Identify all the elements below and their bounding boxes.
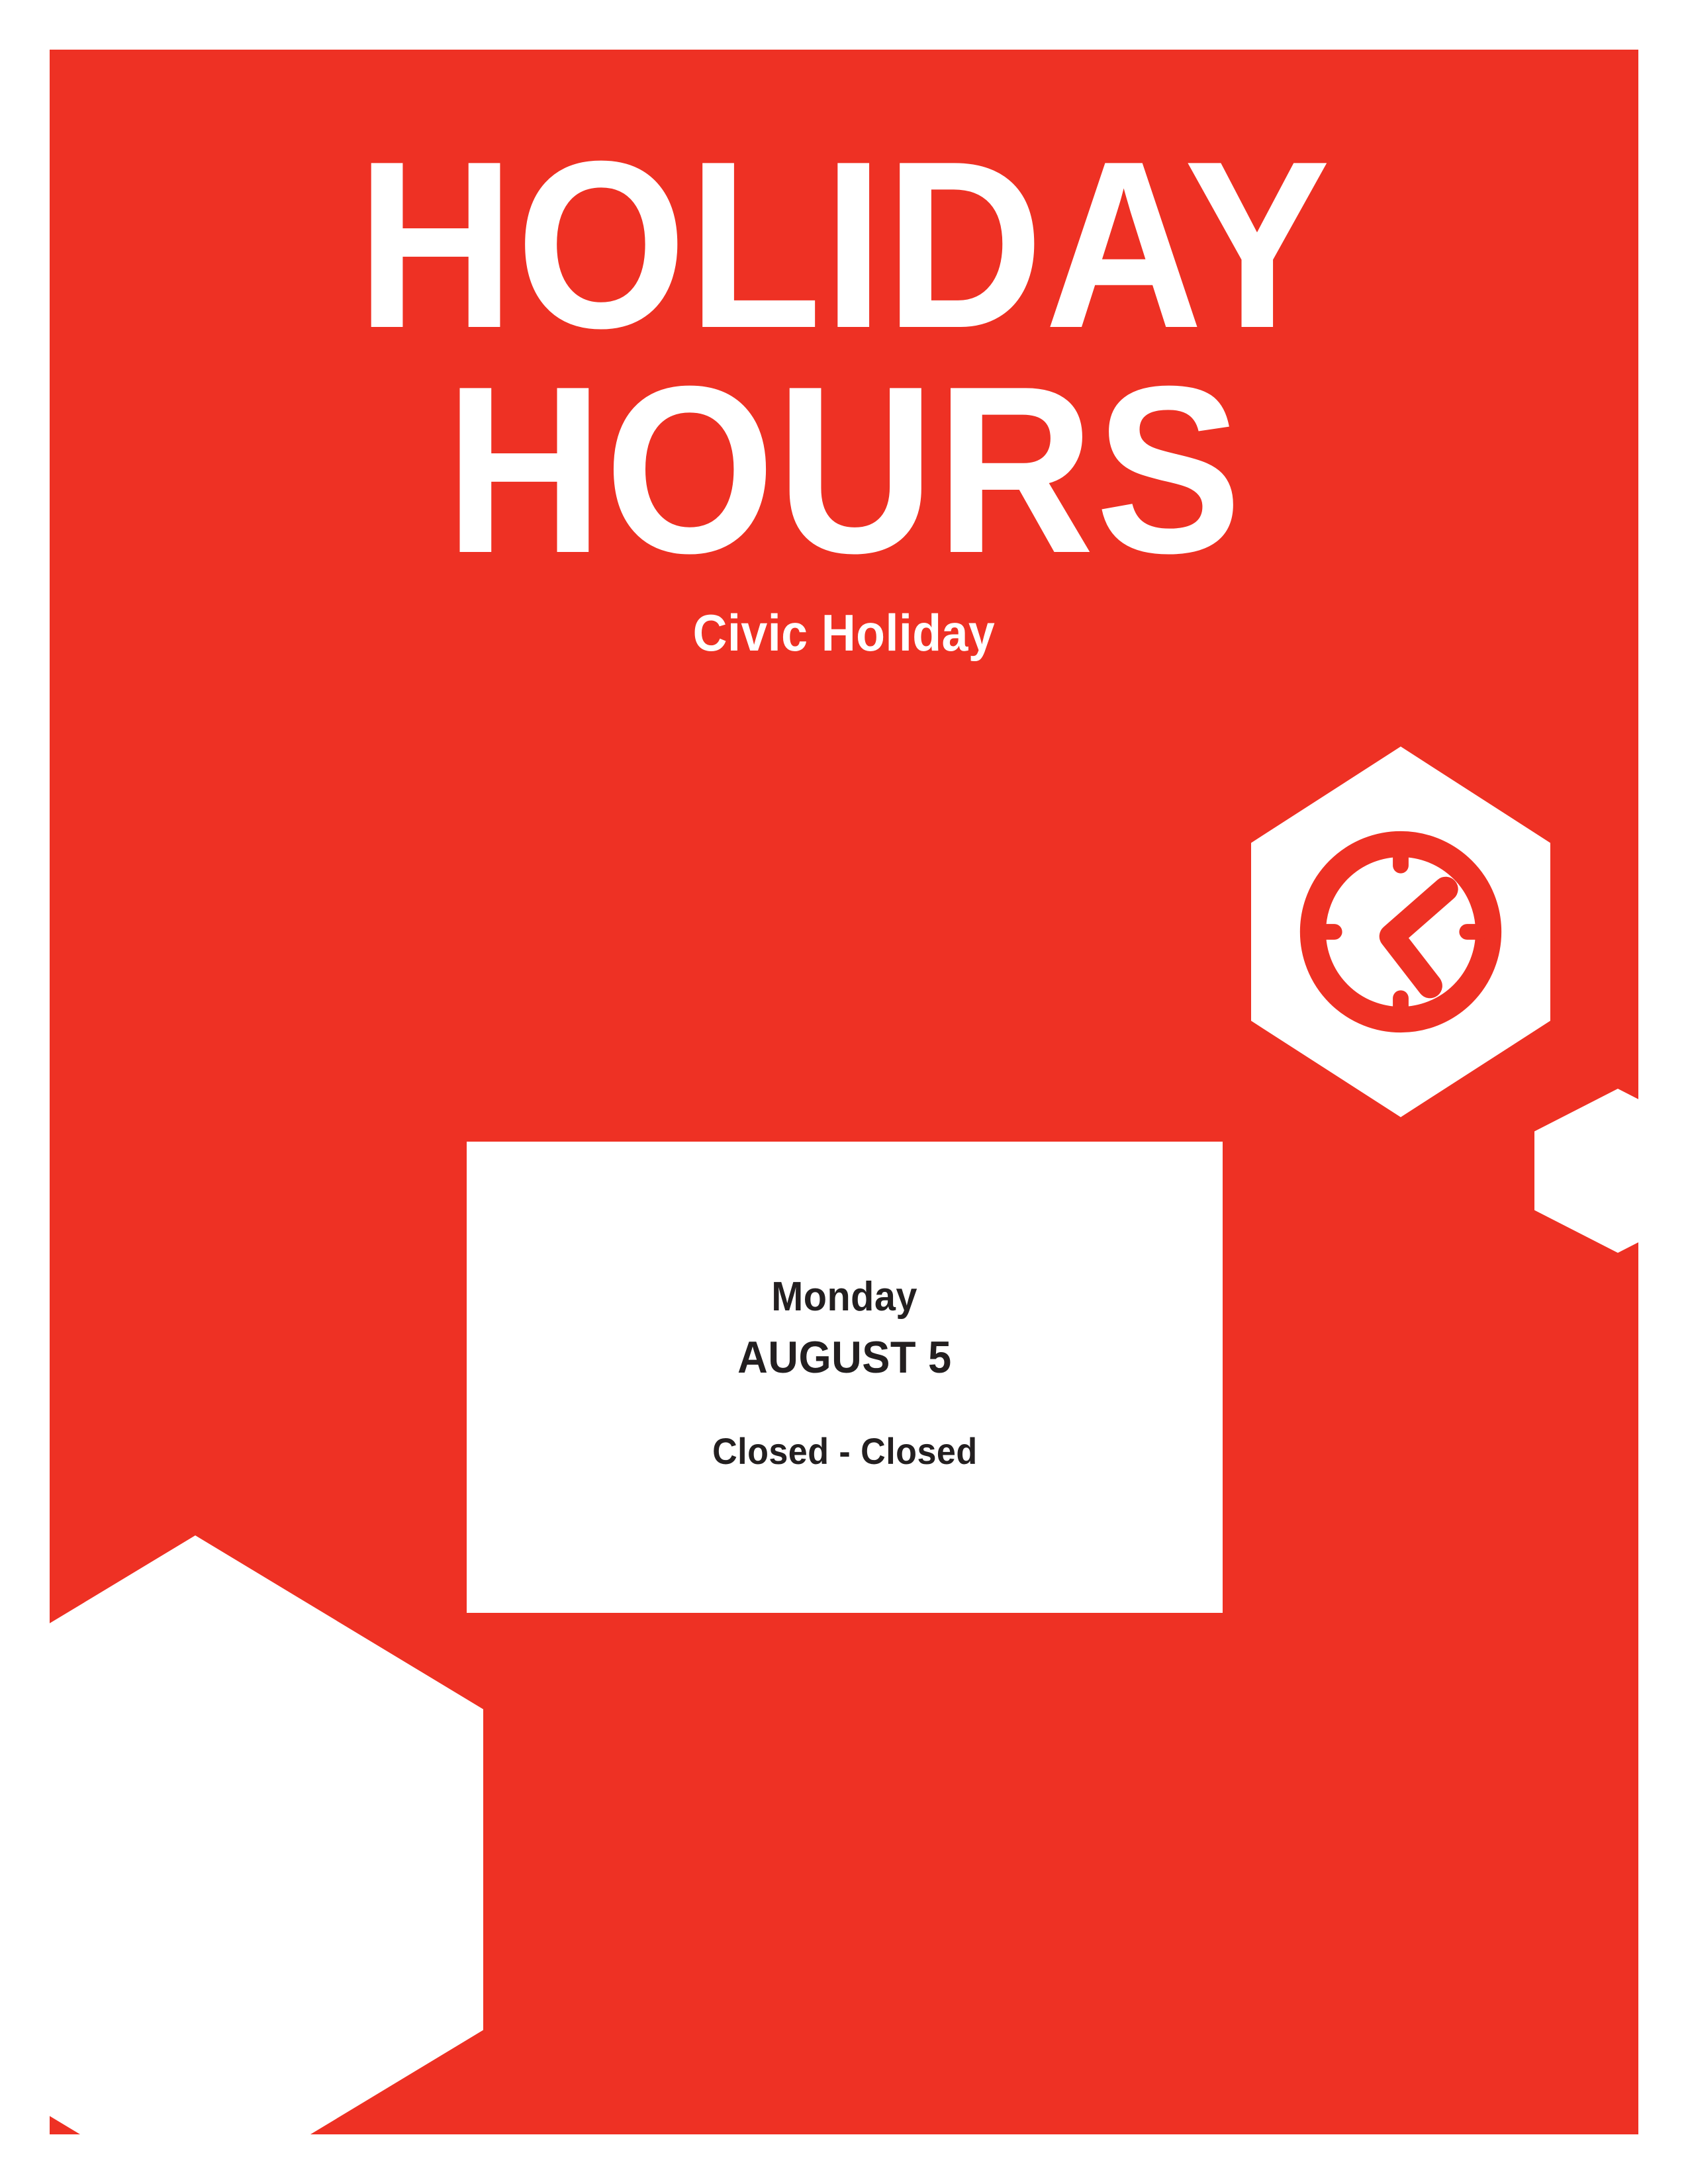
info-card-date: AUGUST 5 [737,1332,951,1383]
clock-icon [1288,819,1513,1044]
headline-line-hours: HOURS [113,361,1575,579]
info-card-day: Monday [772,1274,918,1320]
info-card-hours: Closed - Closed [712,1430,978,1473]
holiday-info-card: Monday AUGUST 5 Closed - Closed [467,1142,1223,1613]
clock-badge [1251,747,1550,1117]
poster-headline: HOLIDAY HOURS Civic Holiday [50,50,1638,661]
poster-panel: HOLIDAY HOURS Civic Holiday Monday AUGUS… [50,50,1638,2134]
headline-line-holiday: HOLIDAY [113,136,1575,354]
accent-hexagon-bottom-left [50,1535,483,2134]
poster-subtitle: Civic Holiday [113,604,1575,661]
